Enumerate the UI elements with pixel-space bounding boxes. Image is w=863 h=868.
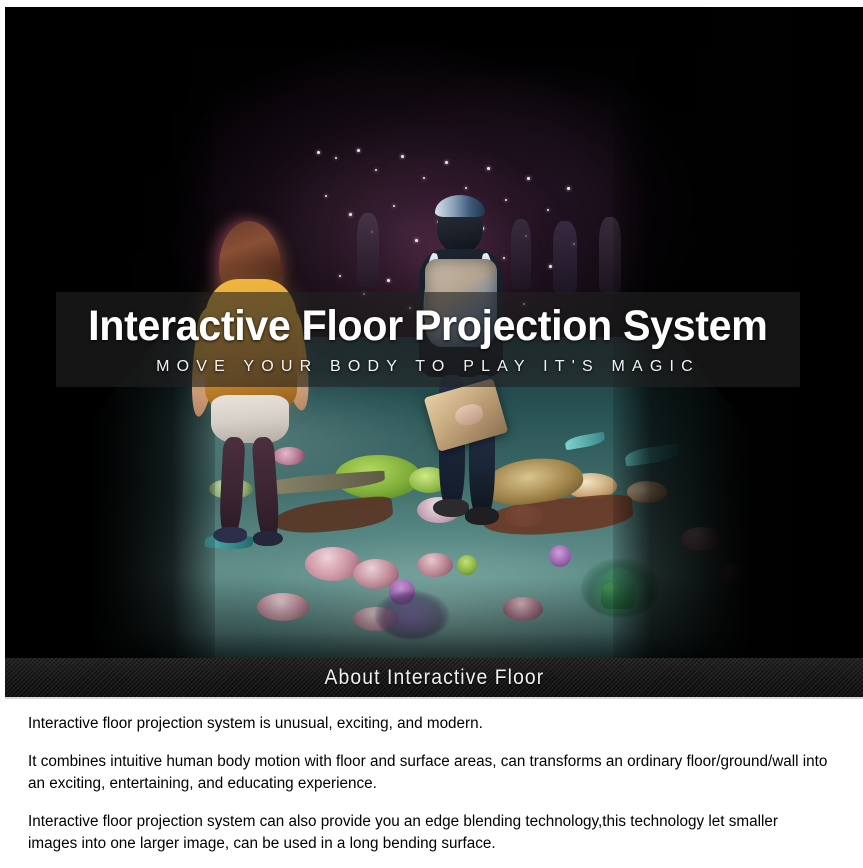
girl-left-shoe [213, 527, 247, 543]
about-section-title: About Interactive Floor [324, 666, 544, 690]
boy-left-shoe [433, 499, 469, 517]
hero-title: Interactive Floor Projection System [88, 305, 767, 348]
girl-shorts [211, 395, 289, 443]
boy-right-shoe [465, 507, 499, 525]
page-root: Interactive Floor Projection System MOVE… [0, 0, 863, 868]
about-paragraph-2: It combines intuitive human body motion … [28, 751, 829, 795]
hero-banner-image: Interactive Floor Projection System MOVE… [5, 7, 863, 658]
distant-figure-1 [357, 213, 379, 287]
girl-right-shoe [253, 531, 283, 546]
distant-figure-2 [511, 219, 531, 289]
about-paragraph-3: Interactive floor projection system can … [28, 811, 829, 855]
about-section-banner: About Interactive Floor [5, 658, 863, 699]
hero-subtitle: MOVE YOUR BODY TO PLAY IT'S MAGIC [156, 359, 700, 375]
about-content: Interactive floor projection system is u… [5, 699, 863, 855]
hero-title-overlay: Interactive Floor Projection System MOVE… [56, 292, 800, 387]
about-paragraph-1: Interactive floor projection system is u… [28, 713, 829, 735]
distant-figure-3 [553, 221, 577, 293]
